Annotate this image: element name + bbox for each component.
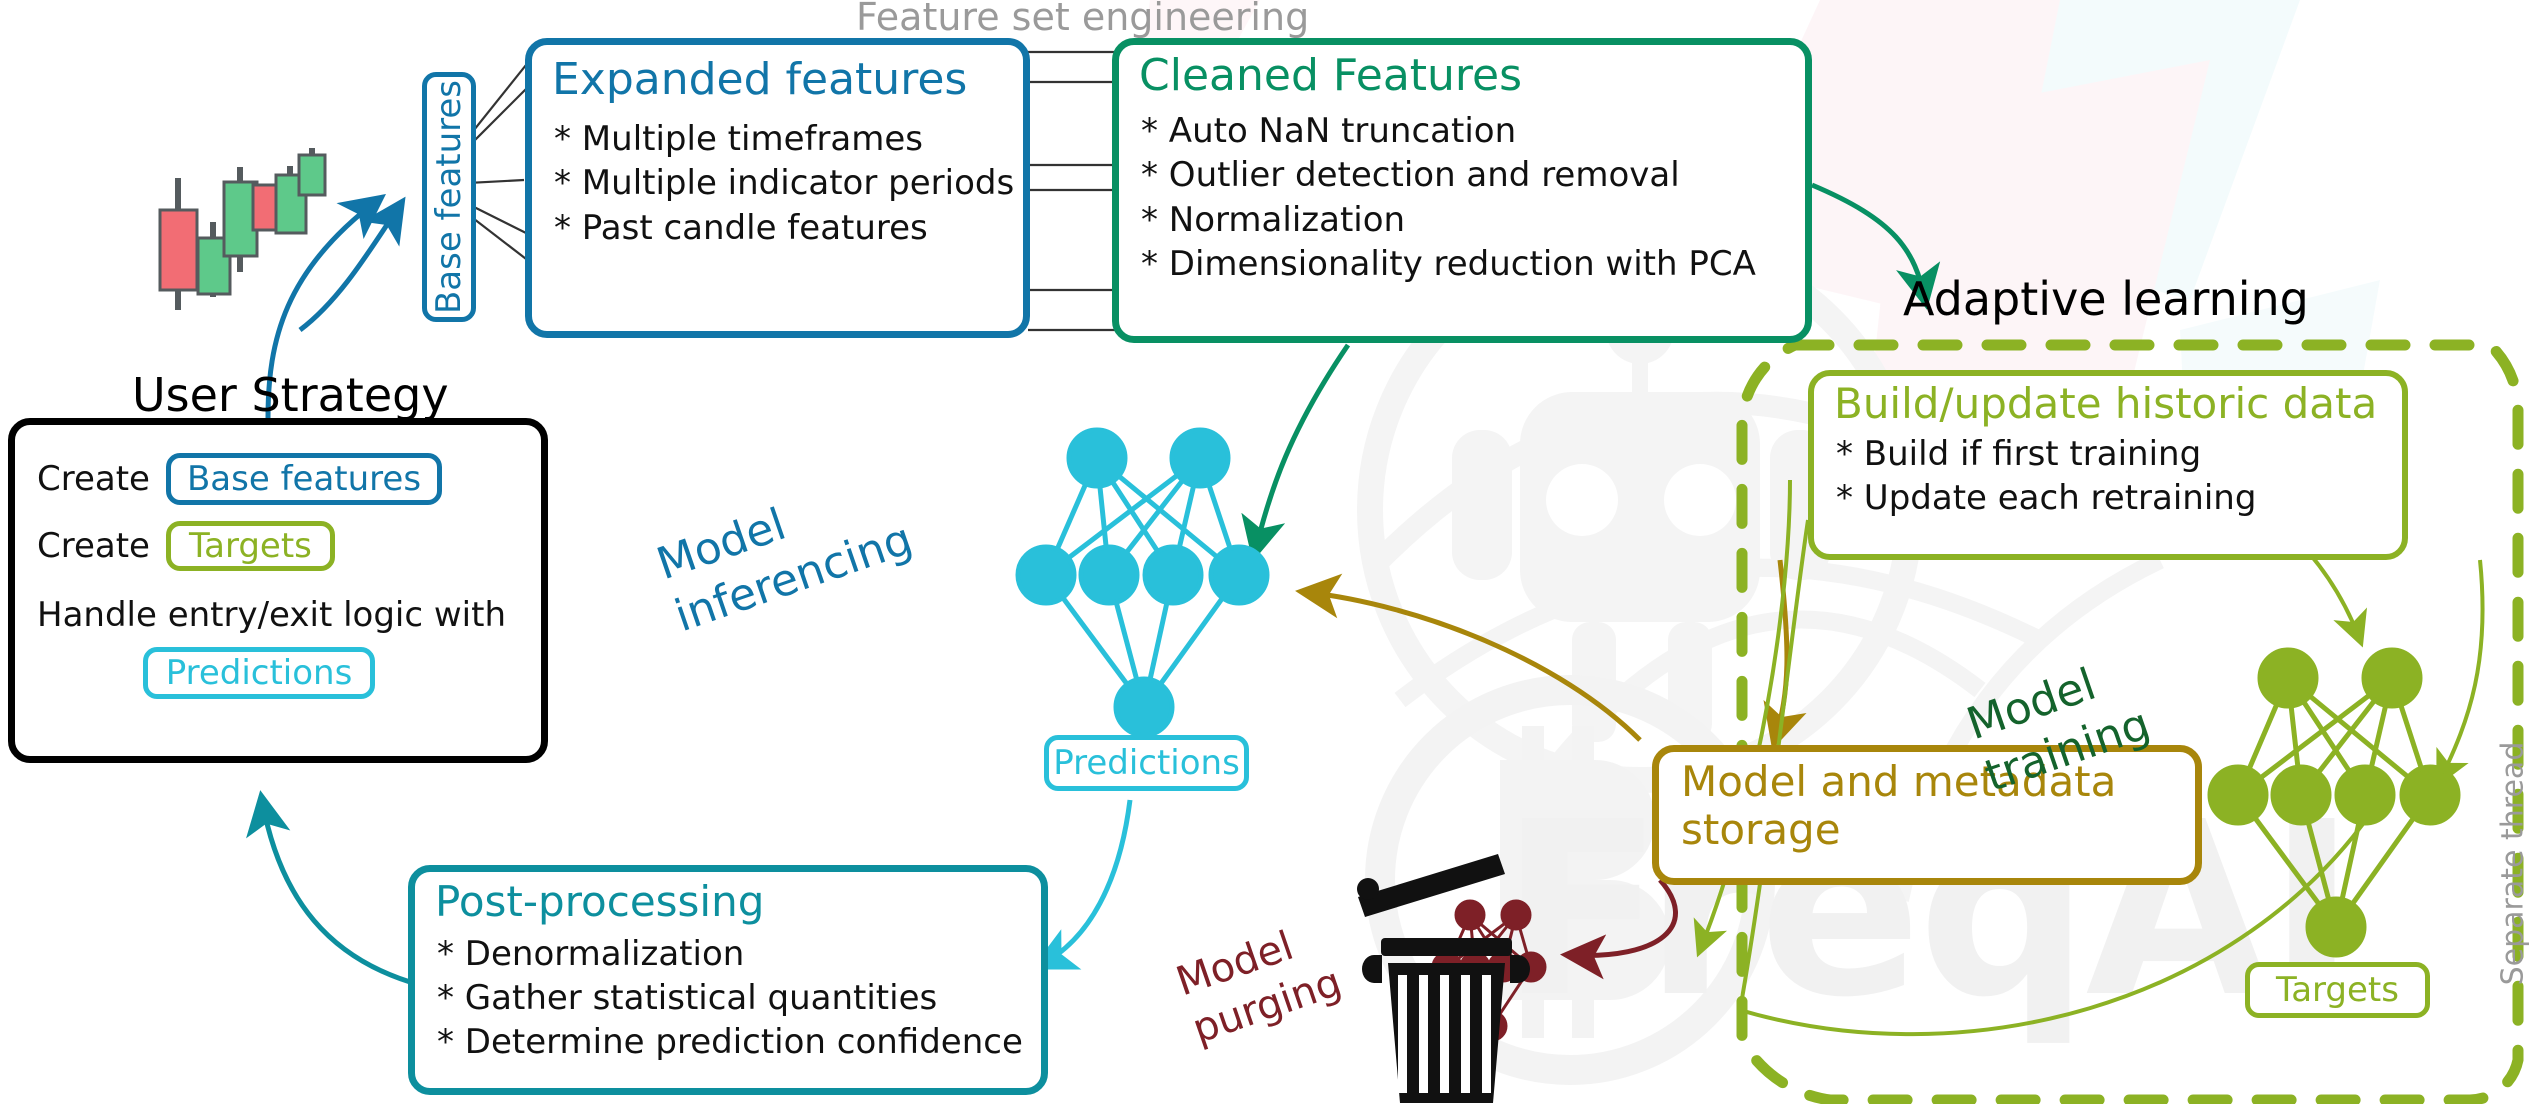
pill-targets-strategy[interactable]: Targets [166,521,335,571]
pill-targets-training[interactable]: Targets [2245,962,2430,1018]
user-strategy-box[interactable]: Create Base features Create Targets Hand… [8,418,548,763]
model-storage-box[interactable]: Model and metadata storage [1652,745,2202,885]
expanded-features-bullet-2: * Past candle features [554,206,1023,250]
post-processing-box[interactable]: Post-processing * Denormalization * Gath… [408,865,1048,1095]
expanded-features-bullet-0: * Multiple timeframes [554,117,1023,161]
user-strategy-prefix-1: Create [37,524,150,568]
model-storage-line-1: Model and metadata [1681,760,2195,804]
user-strategy-prefix-0: Create [37,457,150,501]
pill-base-features[interactable]: Base features [422,72,476,322]
separate-thread-label: Separate thread [2496,714,2531,1014]
user-strategy-prefix-2: Handle entry/exit logic with [37,593,541,637]
post-processing-bullet-2: * Determine prediction confidence [437,1020,1041,1064]
pill-predictions-center[interactable]: Predictions [1044,735,1249,791]
build-update-box[interactable]: Build/update historic data * Build if fi… [1808,370,2408,560]
expanded-features-box[interactable]: Expanded features * Multiple timeframes … [525,38,1030,338]
expanded-features-title: Expanded features [552,57,1023,103]
model-inferencing-label: Model inferencing [650,460,919,644]
cleaned-features-box[interactable]: Cleaned Features * Auto NaN truncation *… [1112,38,1812,343]
cleaned-features-bullet-3: * Dimensionality reduction with PCA [1141,242,1805,286]
user-strategy-label: User Strategy [132,368,449,422]
cleaned-features-bullet-0: * Auto NaN truncation [1141,109,1805,153]
cleaned-features-bullet-1: * Outlier detection and removal [1141,153,1805,197]
cleaned-features-bullet-2: * Normalization [1141,198,1805,242]
model-storage-line-2: storage [1681,808,2195,852]
pill-base-features-strategy[interactable]: Base features [166,453,442,505]
expanded-features-bullet-1: * Multiple indicator periods [554,161,1023,205]
post-processing-bullet-0: * Denormalization [437,932,1041,976]
cleaned-features-title: Cleaned Features [1139,53,1805,99]
pill-predictions-strategy[interactable]: Predictions [143,647,376,699]
model-purging-label: Model purging [1170,910,1348,1055]
post-processing-title: Post-processing [435,880,1041,924]
post-processing-bullet-1: * Gather statistical quantities [437,976,1041,1020]
build-update-title: Build/update historic data [1834,382,2402,426]
build-update-bullet-0: * Build if first training [1836,432,2402,476]
freqai-architecture-diagram: FreqAI [0,0,2539,1104]
feature-set-engineering-label: Feature set engineering [856,0,1309,38]
build-update-bullet-1: * Update each retraining [1836,476,2402,520]
adaptive-learning-label: Adaptive learning [1903,272,2309,326]
nn-inference [1018,430,1267,735]
